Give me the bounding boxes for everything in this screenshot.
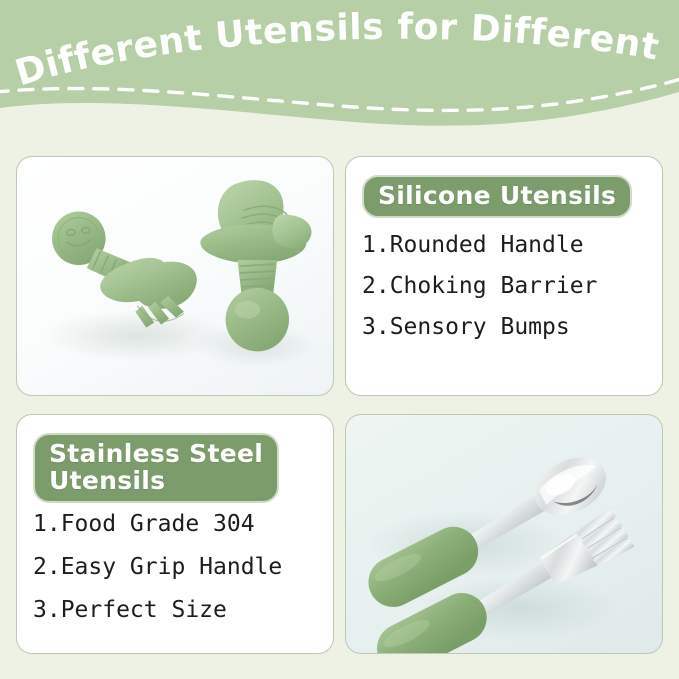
stainless-steel-badge: Stainless Steel Utensils [33, 433, 279, 503]
stainless-steel-info-card: Stainless Steel Utensils 1.Food Grade 30… [16, 414, 334, 654]
stainless-steel-utensils-photo [345, 414, 663, 654]
steel-feature-list: 1.Food Grade 304 2.Easy Grip Handle 3.Pe… [33, 513, 317, 622]
header-band-shape [0, 0, 679, 126]
silicone-badge: Silicone Utensils [362, 175, 632, 218]
list-item: 1.Food Grade 304 [33, 513, 317, 536]
list-item: 2.Easy Grip Handle [33, 556, 317, 579]
list-item: 3.Sensory Bumps [362, 316, 646, 339]
list-item: 1.Rounded Handle [362, 234, 646, 257]
silicone-utensils-photo [16, 156, 334, 396]
header-band [0, 0, 679, 140]
silicone-feature-list: 1.Rounded Handle 2.Choking Barrier 3.Sen… [362, 234, 646, 339]
silicone-info-card: Silicone Utensils 1.Rounded Handle 2.Cho… [345, 156, 663, 396]
silicone-utensils-illustration [17, 157, 333, 395]
content-grid: Silicone Utensils 1.Rounded Handle 2.Cho… [0, 140, 679, 679]
stainless-steel-utensils-illustration [346, 415, 662, 653]
list-item: 3.Perfect Size [33, 599, 317, 622]
list-item: 2.Choking Barrier [362, 275, 646, 298]
